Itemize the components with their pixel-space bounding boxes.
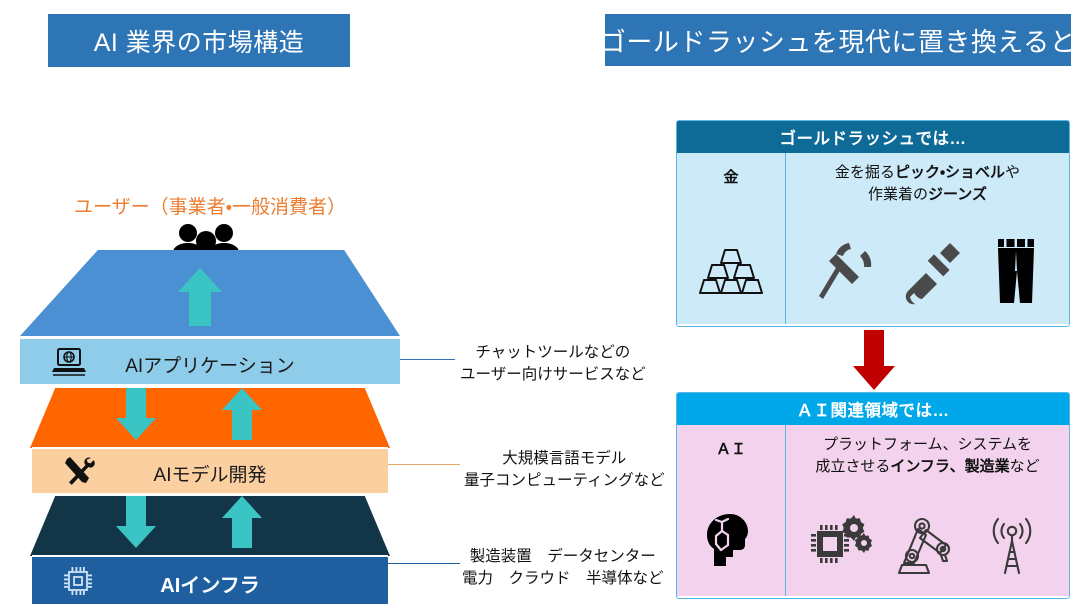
brain-head-icon [677, 512, 785, 570]
gold-right-icon-row [786, 237, 1069, 310]
gold-bars-icon [677, 246, 785, 298]
chip-gears-icon [810, 515, 876, 582]
ai-domain-card: ＡＩ関連領域では… ＡＩ プラットフォーム [676, 392, 1070, 599]
arrow-up-icon-app [178, 268, 222, 331]
leader-line-app [400, 359, 455, 360]
ai-right-icon-row [786, 515, 1069, 582]
layer-model-top-plane [30, 388, 390, 448]
left-title-banner: AI 業界の市場構造 [48, 14, 350, 67]
note-model: 大規模言語モデル 量子コンピューティングなど [464, 448, 665, 492]
gold-left-title: 金 [677, 153, 785, 188]
gold-rush-right-cell: 金を掘るピック・ショベルや 作業着のジーンズ [786, 153, 1069, 324]
ai-right-text: プラットフォーム、システムを 成立させるインフラ、製造業など [786, 425, 1069, 478]
ai-domain-card-body: ＡＩ プラットフォーム、システムを 成立させるインフラ、製造業な [677, 425, 1069, 596]
ai-left-cell: ＡＩ [677, 425, 786, 596]
layer-infra-band: AIインフラ [32, 555, 388, 604]
ai-domain-card-header: ＡＩ関連領域では… [677, 393, 1069, 425]
shovel-icon [904, 241, 962, 310]
layer-app-band: AIアプリケーション [20, 337, 400, 384]
leader-line-model [388, 464, 460, 465]
ai-left-title: ＡＩ [677, 425, 785, 460]
layer-model-band: AIモデル開発 [32, 447, 388, 493]
note-app: チャットツールなどの ユーザー向けサービスなど [460, 342, 646, 386]
pickaxe-icon [815, 241, 875, 310]
gold-rush-card-body: 金 金を掘るピック・ [677, 153, 1069, 324]
gold-rush-card-header: ゴールドラッシュでは… [677, 121, 1069, 153]
arrow-up-icon-infra [222, 496, 262, 553]
robot-arm-icon [896, 515, 958, 582]
layer-infra-top-plane [30, 496, 390, 556]
gold-rush-left-cell: 金 [677, 153, 786, 324]
right-title-banner: ゴールドラッシュを現代に置き換えると [605, 14, 1071, 66]
ai-right-cell: プラットフォーム、システムを 成立させるインフラ、製造業など [786, 425, 1069, 596]
arrow-down-icon-model [116, 388, 156, 445]
jeans-icon [992, 237, 1040, 310]
arrow-down-red-icon [853, 330, 895, 390]
antenna-tower-icon [979, 515, 1045, 582]
layer-model-label: AIモデル開発 [32, 460, 388, 487]
users-label: ユーザー（事業者・一般消費者） [40, 192, 380, 219]
layer-infra-label: AIインフラ [32, 569, 388, 598]
gold-rush-card: ゴールドラッシュでは… 金 [676, 120, 1070, 327]
gold-right-text: 金を掘るピック・ショベルや 作業着のジーンズ [786, 153, 1069, 206]
note-infra: 製造装置 データセンター 電力 クラウド 半導体など [462, 546, 664, 590]
slide-canvas: AI 業界の市場構造 ゴールドラッシュを現代に置き換えると ユーザー（事業者・一… [0, 0, 1088, 606]
layer-app-label: AIアプリケーション [20, 351, 400, 378]
leader-line-infra [388, 563, 460, 564]
arrow-up-icon-model [222, 388, 262, 445]
ai-stack-diagram: ユーザー（事業者・一般消費者） [0, 150, 470, 606]
arrow-down-icon-infra [116, 496, 156, 553]
